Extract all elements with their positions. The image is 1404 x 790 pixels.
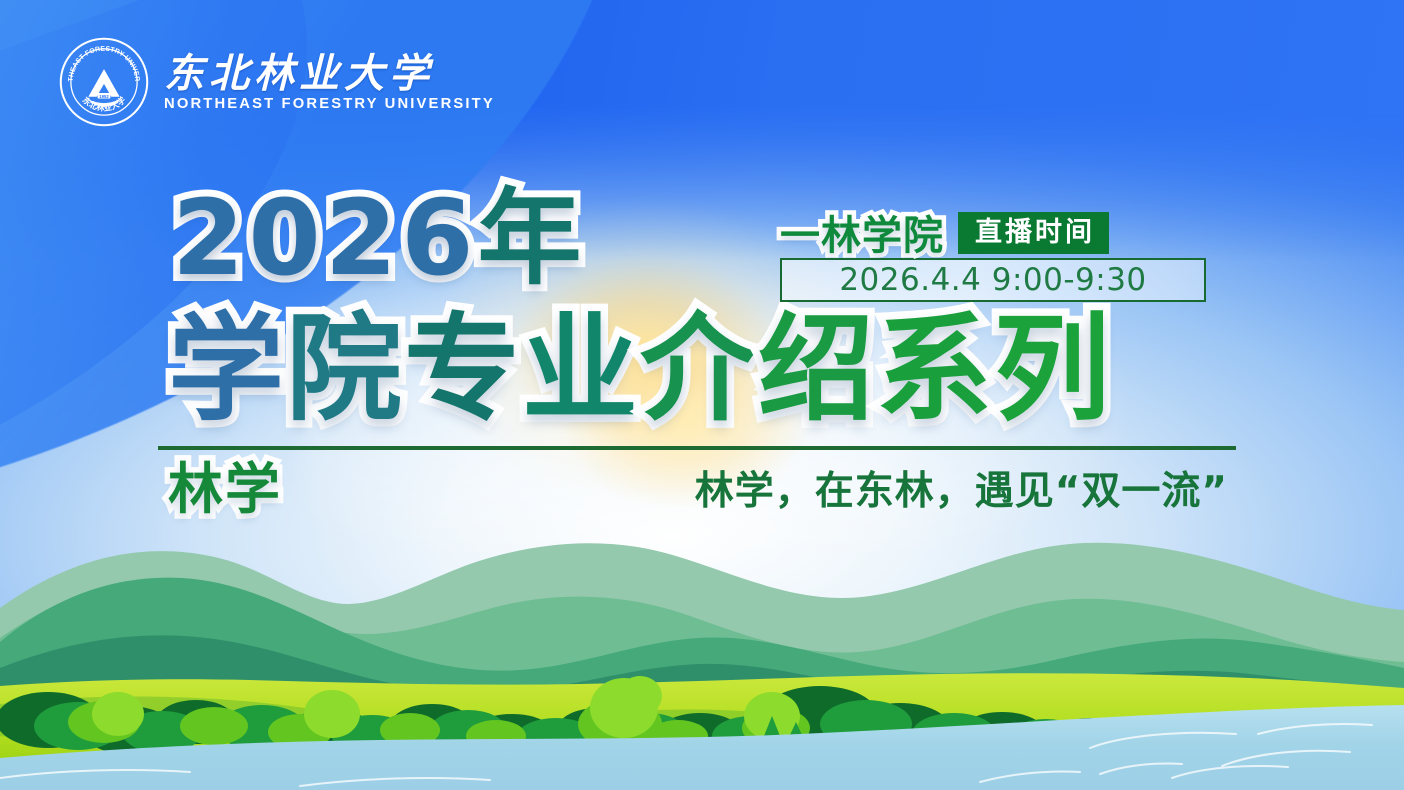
date-time-box: 2026.4.4 9:00-9:30 — [780, 258, 1206, 302]
landscape-illustration — [0, 490, 1404, 790]
section-divider — [158, 446, 1236, 450]
college-name: 一林学院 — [780, 216, 944, 256]
major-name: 林学 — [168, 462, 282, 517]
live-time-badge: 直播时间 — [958, 212, 1109, 254]
university-name-en: NORTHEAST FORESTRY UNIVERSITY — [164, 97, 495, 112]
brand-header: 1952 NORTHEAST FORESTRY UNIVERSITY 东北林业大… — [58, 36, 488, 128]
university-name-group: 东北林业大学 NORTHEAST FORESTRY UNIVERSITY — [164, 53, 488, 112]
university-name-cn: 东北林业大学 — [164, 53, 488, 95]
live-info-block: 一林学院 直播时间 2026.4.4 9:00-9:30 — [780, 200, 1210, 302]
svg-text:NORTHEAST FORESTRY UNIVERSITY: NORTHEAST FORESTRY UNIVERSITY — [58, 36, 140, 82]
svg-text:1952: 1952 — [99, 94, 109, 99]
university-crest-icon: 1952 NORTHEAST FORESTRY UNIVERSITY 东北林业大… — [58, 36, 150, 128]
live-info-top-row: 一林学院 直播时间 — [780, 200, 1210, 254]
date-time-text: 2026.4.4 9:00-9:30 — [839, 265, 1146, 296]
tagline: 林学，在东林，遇见“双一流” — [695, 472, 1228, 511]
poster-canvas: 1952 NORTHEAST FORESTRY UNIVERSITY 东北林业大… — [0, 0, 1404, 790]
